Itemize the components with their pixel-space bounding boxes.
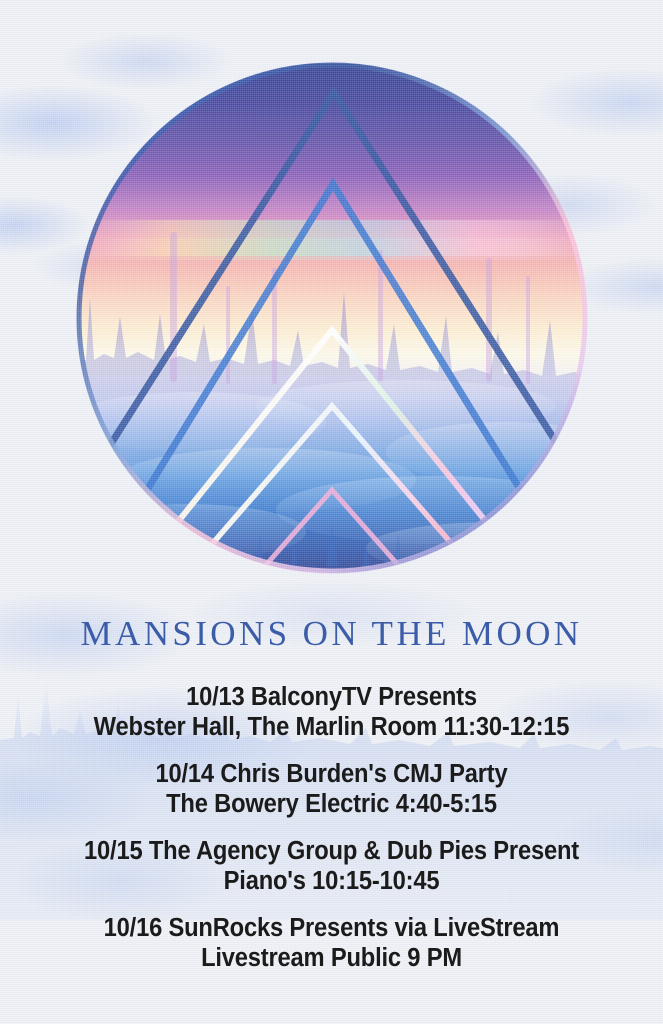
event-headline: 10/16 SunRocks Presents via LiveStream: [23, 913, 640, 943]
list-item: 10/15 The Agency Group & Dub Pies Presen…: [0, 836, 663, 896]
list-item: 10/16 SunRocks Presents via LiveStream L…: [0, 913, 663, 973]
list-item: 10/13 BalconyTV Presents Webster Hall, T…: [0, 682, 663, 742]
event-headline: 10/15 The Agency Group & Dub Pies Presen…: [23, 836, 640, 866]
tour-date-poster: MANSIONS ON THE MOON 10/13 BalconyTV Pre…: [0, 0, 663, 1024]
event-venue-time: Livestream Public 9 PM: [23, 943, 640, 973]
page-title: MANSIONS ON THE MOON: [0, 614, 663, 654]
event-venue-time: The Bowery Electric 4:40-5:15: [23, 789, 640, 819]
event-headline: 10/14 Chris Burden's CMJ Party: [23, 759, 640, 789]
event-venue-time: Piano's 10:15-10:45: [23, 866, 640, 896]
artwork-svg: [76, 62, 588, 574]
event-venue-time: Webster Hall, The Marlin Room 11:30-12:1…: [23, 712, 640, 742]
event-headline: 10/13 BalconyTV Presents: [23, 682, 640, 712]
tour-date-list: 10/13 BalconyTV Presents Webster Hall, T…: [0, 682, 663, 973]
circular-artwork: [76, 62, 588, 574]
list-item: 10/14 Chris Burden's CMJ Party The Bower…: [0, 759, 663, 819]
